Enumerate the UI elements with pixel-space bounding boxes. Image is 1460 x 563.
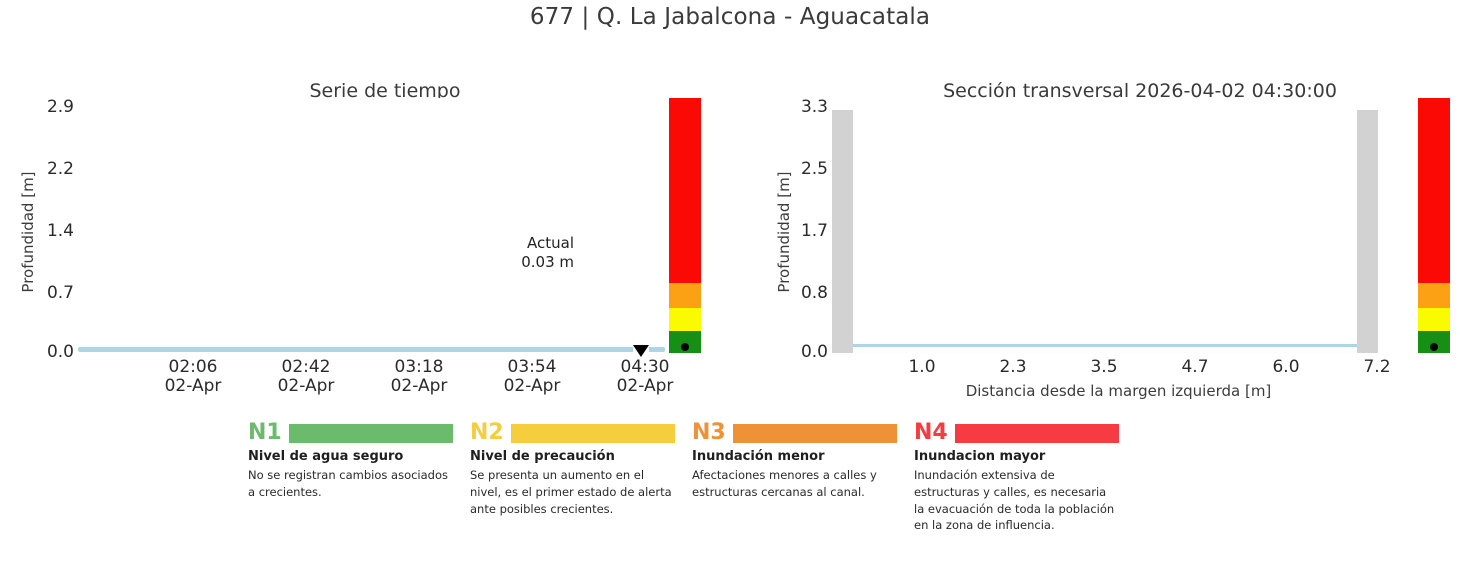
water-body-fill: [853, 341, 1357, 353]
time-series-ytick: 0.0: [12, 342, 74, 362]
xtick-date: 02-Apr: [241, 377, 371, 396]
bank-left: [832, 110, 853, 353]
chart-panel-time-series: Serie de tiempo Profundidad [m] 2.9 2.2 …: [0, 70, 720, 410]
legend-title-n4: Inundacion mayor: [914, 449, 1119, 465]
alert-level-legend: N1 Nivel de agua seguro No se registran …: [248, 422, 1148, 552]
water-depth-series-line: [78, 347, 665, 352]
current-level-dot: [1430, 343, 1438, 351]
cross-section-ytick: 1.7: [766, 221, 828, 241]
legend-item-n1[interactable]: N1 Nivel de agua seguro No se registran …: [248, 422, 453, 501]
legend-item-n2[interactable]: N2 Nivel de precaución Se presenta un au…: [470, 422, 675, 517]
chart-panel-cross-section: Sección transversal 2026-04-02 04:30:00 …: [740, 70, 1460, 410]
time-series-xtick: 03:18 02-Apr: [354, 358, 484, 396]
legend-head-n3: N3: [692, 422, 897, 444]
legend-head-n4: N4: [914, 422, 1119, 444]
cross-section-ytick: 0.0: [766, 342, 828, 362]
cross-section-xtick: 2.3: [983, 358, 1043, 377]
alert-level-bar-cross-section: [1418, 98, 1450, 353]
cross-section-ytick: 0.8: [766, 283, 828, 303]
legend-title-n2: Nivel de precaución: [470, 449, 675, 465]
time-series-ytick: 1.4: [12, 221, 74, 241]
legend-swatch-n2: [511, 424, 675, 443]
time-series-ytick: 0.7: [12, 283, 74, 303]
bank-right: [1357, 110, 1378, 353]
time-series-xtick: 04:30 02-Apr: [580, 358, 710, 396]
page-title: 677 | Q. La Jabalcona - Aguacatala: [0, 4, 1460, 30]
xtick-time: 02:06: [128, 358, 258, 377]
legend-swatch-n4: [955, 424, 1119, 443]
legend-description-n2: Se presenta un aumento en el nivel, es e…: [470, 467, 675, 517]
xtick-date: 02-Apr: [580, 377, 710, 396]
time-series-xtick: 03:54 02-Apr: [467, 358, 597, 396]
legend-title-n3: Inundación menor: [692, 449, 897, 465]
legend-swatch-n1: [289, 424, 453, 443]
legend-swatch-n3: [733, 424, 897, 443]
alert-level-bar-time-series: [669, 98, 701, 353]
cross-section-plot-area[interactable]: [832, 98, 1405, 353]
alert-band-n4: [669, 98, 701, 283]
time-series-xtick: 02:06 02-Apr: [128, 358, 258, 396]
alert-band-n3: [1418, 283, 1450, 308]
water-surface-line: [853, 344, 1357, 347]
legend-title-n1: Nivel de agua seguro: [248, 449, 453, 465]
time-series-ytick: 2.2: [12, 159, 74, 179]
xtick-date: 02-Apr: [354, 377, 484, 396]
cross-section-xtick: 3.5: [1074, 358, 1134, 377]
cross-section-xtick: 1.0: [892, 358, 952, 377]
legend-description-n1: No se registran cambios asociados a crec…: [248, 467, 453, 500]
xtick-time: 03:54: [467, 358, 597, 377]
xtick-time: 02:42: [241, 358, 371, 377]
alert-band-n2: [1418, 308, 1450, 331]
cross-section-ytick: 3.3: [766, 97, 828, 117]
xtick-time: 03:18: [354, 358, 484, 377]
cross-section-xtick: 7.2: [1347, 358, 1407, 377]
legend-item-n4[interactable]: N4 Inundacion mayor Inundación extensiva…: [914, 422, 1119, 534]
current-value-label: Actual: [474, 234, 574, 253]
cross-section-xlabel: Distancia desde la margen izquierda [m]: [832, 382, 1405, 400]
alert-band-n2: [669, 308, 701, 331]
xtick-time: 04:30: [580, 358, 710, 377]
legend-description-n4: Inundación extensiva de estructuras y ca…: [914, 467, 1119, 534]
legend-item-n3[interactable]: N3 Inundación menor Afectaciones menores…: [692, 422, 897, 501]
xtick-date: 02-Apr: [467, 377, 597, 396]
current-value-reading: 0.03 m: [474, 253, 574, 272]
legend-code-n4: N4: [914, 422, 948, 444]
legend-head-n1: N1: [248, 422, 453, 444]
cross-section-xtick: 4.7: [1165, 358, 1225, 377]
alert-band-n4: [1418, 98, 1450, 283]
time-series-xtick: 02:42 02-Apr: [241, 358, 371, 396]
legend-code-n3: N3: [692, 422, 726, 444]
time-series-plot-area[interactable]: [78, 98, 665, 353]
legend-head-n2: N2: [470, 422, 675, 444]
alert-band-n3: [669, 283, 701, 308]
current-value-annotation: Actual 0.03 m: [474, 234, 574, 272]
xtick-date: 02-Apr: [128, 377, 258, 396]
legend-code-n1: N1: [248, 422, 282, 444]
time-series-ytick: 2.9: [12, 97, 74, 117]
legend-description-n3: Afectaciones menores a calles y estructu…: [692, 467, 897, 500]
cross-section-ytick: 2.5: [766, 159, 828, 179]
legend-code-n2: N2: [470, 422, 504, 444]
cross-section-xtick: 6.0: [1256, 358, 1316, 377]
current-level-dot: [681, 343, 689, 351]
